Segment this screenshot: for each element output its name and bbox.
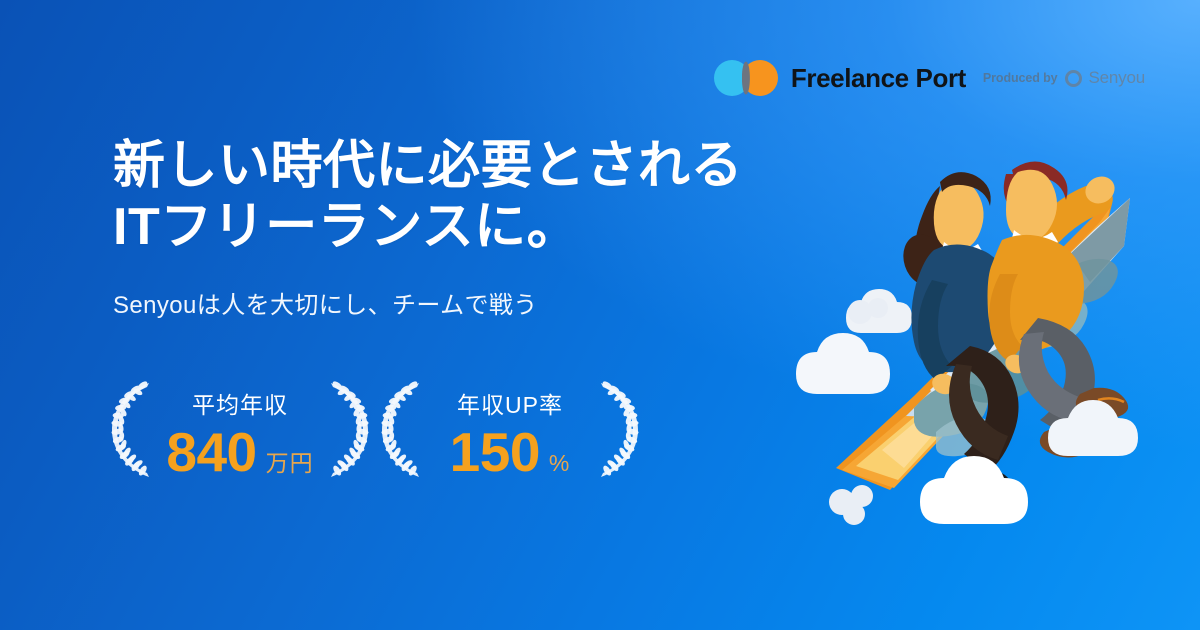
laurel-wreath-icon [378,378,424,482]
freelance-port-logo[interactable]: Freelance Port [714,60,966,96]
laurel-wreath-icon [108,378,154,482]
headline-line-2: ITフリーランスに。 [113,197,813,258]
senyou-ring-icon [1065,70,1082,87]
stat-label: 平均年収 [192,386,288,420]
stat-body: 年収UP率 150 % [426,378,594,482]
hero-copy: 新しい時代に必要とされる ITフリーランスに。 Senyouは人を大切にし、チー… [113,136,813,320]
hero-banner: Freelance Port Produced by Senyou 新しい時代に… [0,0,1200,630]
hero-subtitle: Senyouは人を大切にし、チームで戦う [113,285,813,320]
stat-value: 840 万円 [166,424,313,482]
brand-name: Freelance Port [791,63,966,94]
laurel-wreath-icon [326,378,372,482]
venn-two-circles-icon [714,60,778,96]
stat-label: 年収UP率 [457,386,563,420]
produced-by-label: Produced by [983,71,1058,85]
stat-body: 平均年収 840 万円 [156,378,324,482]
stat-number: 840 [166,424,256,482]
laurel-wreath-icon [596,378,642,482]
cloud-shape [920,456,1028,524]
headline-line-1: 新しい時代に必要とされる [113,136,813,197]
rocket-with-two-people-icon [794,150,1174,540]
stat-unit: 万円 [266,444,314,478]
brand-bar: Freelance Port Produced by Senyou [714,60,1145,96]
stat-value: 150 % [450,424,571,482]
stat-unit: % [549,450,570,477]
stat-card: 平均年収 840 万円 [108,378,372,482]
stat-card: 年収UP率 150 % [378,378,642,482]
stats-row: 平均年収 840 万円 [108,378,642,482]
page-title: 新しい時代に必要とされる ITフリーランスに。 [113,136,813,259]
cloud-puff-shape [829,485,873,525]
cloud-shape [796,333,890,394]
partner-name: Senyou [1089,68,1145,88]
produced-by-lockup: Produced by Senyou [983,68,1145,88]
stat-number: 150 [450,424,540,482]
